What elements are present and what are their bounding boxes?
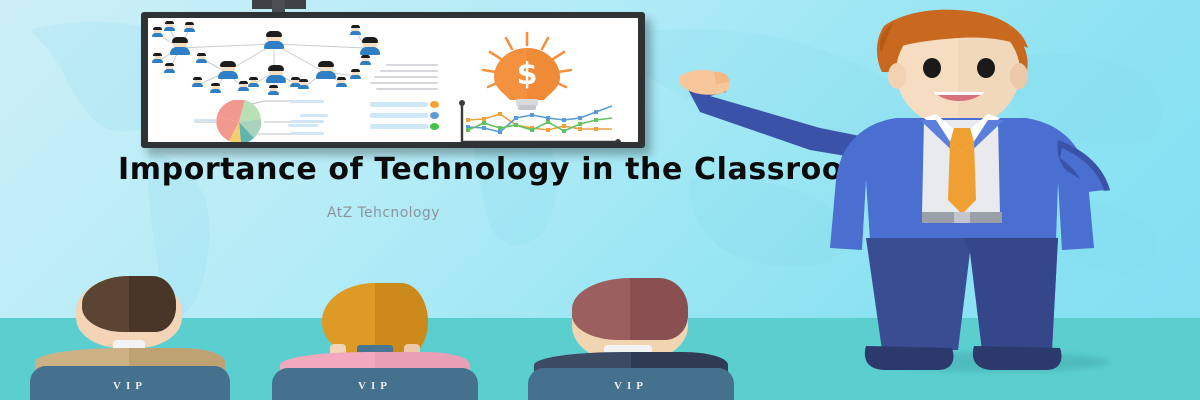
text-line <box>374 76 438 78</box>
svg-text:$: $ <box>517 57 538 92</box>
seat3-chair[interactable]: VIP <box>528 368 734 400</box>
seat1-vip-label: VIP <box>30 380 230 392</box>
seat3-vip-label: VIP <box>528 380 734 392</box>
presentation-whiteboard[interactable]: $ <box>141 12 645 148</box>
seat1-chair[interactable]: VIP <box>30 366 230 400</box>
seat2-chair[interactable]: VIP <box>272 368 478 400</box>
legend-bar <box>370 113 428 118</box>
network-diagram-links <box>156 26 366 98</box>
legend-bar <box>370 124 428 129</box>
legend-dot-green <box>430 123 439 130</box>
line-chart <box>456 100 634 142</box>
seat3-hair-shade <box>630 278 688 340</box>
whiteboard-surface: $ <box>148 18 638 142</box>
pie-caption-bar <box>288 124 318 127</box>
pie-caption-bar <box>300 114 328 117</box>
presenter-businessman <box>670 0 1200 400</box>
text-line <box>380 70 438 72</box>
text-line <box>376 88 438 90</box>
brand-subtitle: AtZ Tehcnology <box>327 205 440 221</box>
text-line <box>370 82 438 84</box>
legend-dot-blue <box>430 112 439 119</box>
legend-bar <box>370 102 428 107</box>
classroom-technology-banner: $ <box>0 0 1200 400</box>
seat2-vip-label: VIP <box>272 380 478 392</box>
legend-dot-orange <box>430 101 439 108</box>
text-line <box>386 64 438 66</box>
seat1-hair-shade <box>129 276 176 332</box>
pie-chart <box>194 100 374 142</box>
